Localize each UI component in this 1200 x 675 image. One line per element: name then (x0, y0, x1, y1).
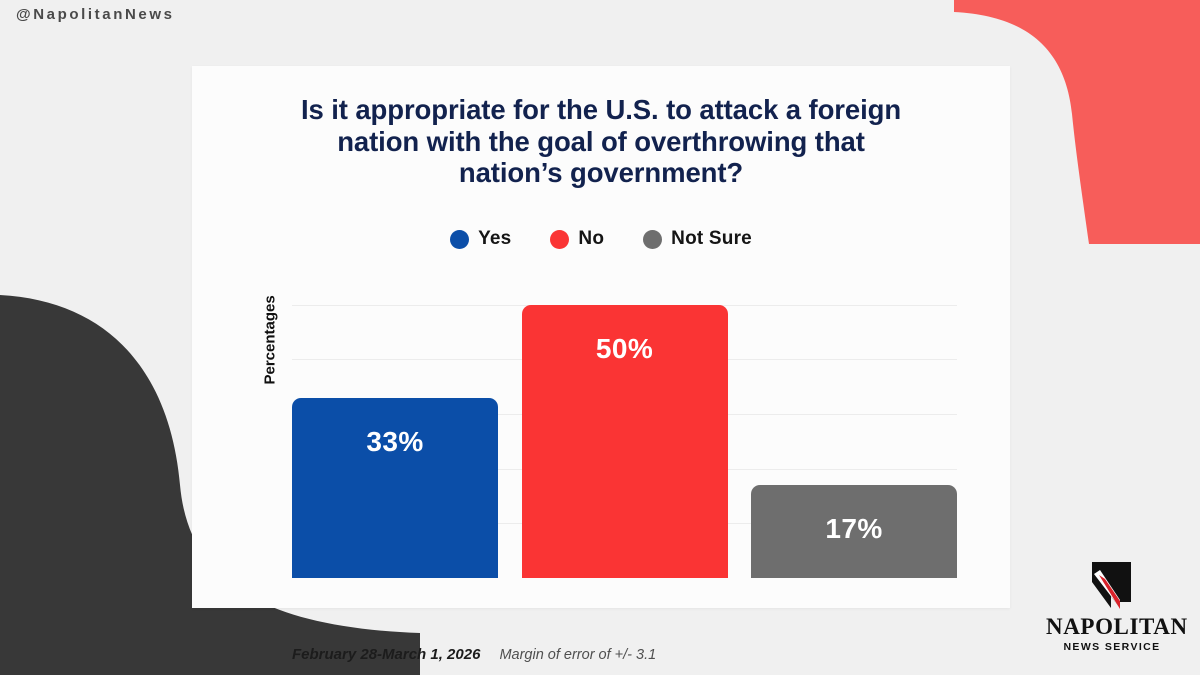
bar-slot-no: 50% (522, 272, 728, 578)
bar-value-label: 33% (292, 426, 498, 458)
chart-title-line-1: Is it appropriate for the U.S. to attack… (232, 94, 970, 126)
logo-wordmark: NAPOLITAN (1046, 615, 1178, 639)
chart-title-line-2: nation with the goal of overthrowing tha… (232, 126, 970, 158)
plot-area: 33% 50% 17% (292, 272, 957, 578)
margin-of-error: Margin of error of +/- 3.1 (499, 647, 656, 663)
bar-slot-not-sure: 17% (751, 272, 957, 578)
legend-swatch-icon (550, 230, 569, 249)
chart-legend: Yes No Not Sure (192, 228, 1010, 250)
napolitan-n-icon (1086, 560, 1138, 610)
survey-date-range: February 28-March 1, 2026 (292, 646, 480, 663)
legend-swatch-icon (450, 230, 469, 249)
legend-label: No (578, 228, 604, 250)
bar-slot-yes: 33% (292, 272, 498, 578)
legend-label: Not Sure (671, 228, 752, 250)
logo-tagline: NEWS SERVICE (1046, 641, 1178, 653)
footer: February 28-March 1, 2026 Margin of erro… (292, 646, 656, 663)
bar-yes[interactable]: 33% (292, 398, 498, 578)
legend-label: Yes (478, 228, 511, 250)
brand-logo: NAPOLITAN NEWS SERVICE (1046, 560, 1178, 653)
bar-value-label: 50% (522, 333, 728, 365)
social-handle: @NapolitanNews (16, 6, 175, 23)
legend-item-no[interactable]: No (550, 228, 604, 250)
infographic-canvas: @NapolitanNews Is it appropriate for the… (0, 0, 1200, 675)
bar-value-label: 17% (751, 513, 957, 545)
chart-card: Is it appropriate for the U.S. to attack… (192, 66, 1010, 608)
chart-title: Is it appropriate for the U.S. to attack… (232, 94, 970, 189)
legend-swatch-icon (643, 230, 662, 249)
legend-item-not-sure[interactable]: Not Sure (643, 228, 752, 250)
chart-title-line-3: nation’s government? (232, 157, 970, 189)
bar-group: 33% 50% 17% (292, 272, 957, 578)
legend-item-yes[interactable]: Yes (450, 228, 511, 250)
y-axis-label: Percentages (262, 365, 279, 385)
bar-no[interactable]: 50% (522, 305, 728, 578)
bar-not-sure[interactable]: 17% (751, 485, 957, 578)
